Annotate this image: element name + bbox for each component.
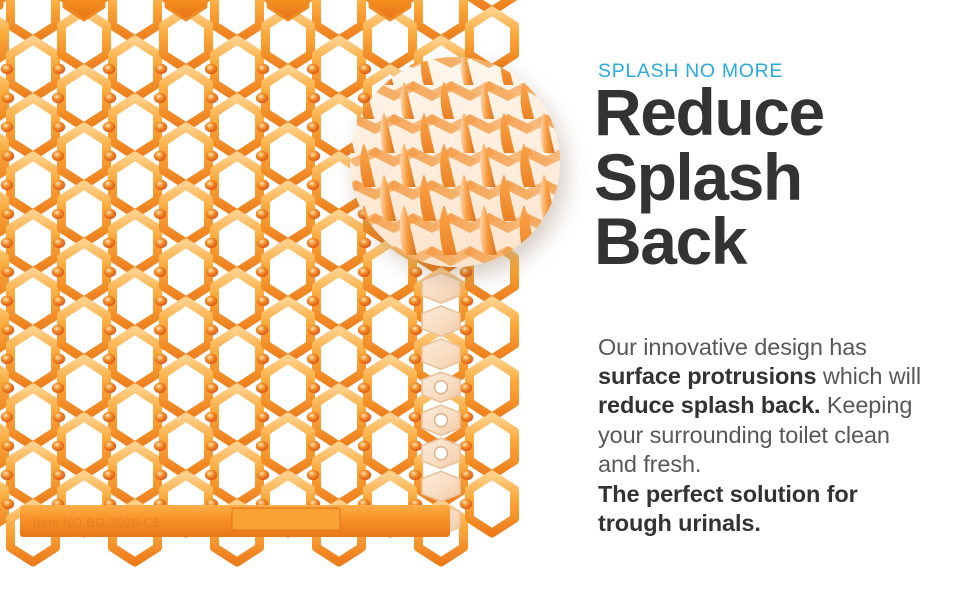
lattice-joint-bump [205, 64, 217, 74]
hex-cell [418, 0, 463, 40]
hex-cell [214, 156, 259, 214]
lattice-joint-bump [257, 296, 269, 306]
lattice-joint-bump [206, 267, 218, 277]
lattice-joint-bump [308, 267, 320, 277]
lattice-joint-bump [460, 499, 472, 509]
lattice-joint-bump [155, 180, 167, 190]
lattice-joint-bump [308, 209, 320, 219]
lattice-joint-bump [205, 354, 217, 364]
hex-cell [469, 475, 514, 533]
hex-cell [10, 272, 55, 330]
hex-cell [367, 301, 412, 359]
lattice-joint-bump [460, 383, 472, 393]
hex-cell [10, 330, 55, 388]
lattice-joint-bump [104, 93, 116, 103]
lattice-joint-bump [104, 441, 116, 451]
lattice-joint-bump [307, 412, 319, 422]
hex-cell [214, 40, 259, 98]
lattice-joint-bump [53, 354, 65, 364]
hex-cell [10, 156, 55, 214]
lattice-joint-bump [205, 296, 217, 306]
lattice-joint-bump [1, 470, 13, 480]
lattice-joint-bump [103, 354, 115, 364]
hex-cell [112, 446, 157, 504]
lattice-joint-bump [104, 383, 116, 393]
lattice-joint-bump [359, 238, 371, 248]
lattice-joint-bump [308, 93, 320, 103]
lattice-joint-bump [358, 267, 370, 277]
lattice-joint-bump [155, 64, 167, 74]
lattice-joint-bump [460, 441, 472, 451]
hex-cell [112, 272, 157, 330]
hex-cell [112, 388, 157, 446]
hex-cell [316, 388, 361, 446]
lattice-joint-bump [256, 151, 268, 161]
closing-paragraph: The perfect solution for trough urinals. [598, 480, 928, 539]
hex-cell [0, 11, 5, 69]
lattice-joint-bump [53, 64, 65, 74]
lattice-joint-bump [206, 325, 218, 335]
lattice-joint-bump [155, 470, 167, 480]
mat-bottom-rail [20, 505, 450, 537]
lattice-joint-bump [359, 296, 371, 306]
lattice-joint-bump [307, 470, 319, 480]
hex-cell [112, 214, 157, 272]
lattice-joint-bump [409, 470, 421, 480]
lattice-joint-bump [103, 238, 115, 248]
hex-cell [265, 243, 310, 301]
hex-cell [367, 359, 412, 417]
headline-line-1: Reduce [594, 80, 824, 145]
lattice-joint-bump [53, 122, 65, 132]
lattice-joint-bump [410, 325, 422, 335]
lattice-joint-bump [52, 151, 64, 161]
lattice-joint-bump [103, 64, 115, 74]
lattice-joint-bump [308, 441, 320, 451]
hex-cell [469, 417, 514, 475]
lattice-joint-bump [257, 122, 269, 132]
lattice-joint-bump [307, 354, 319, 364]
lattice-joint-bump [257, 64, 269, 74]
headline-line-2: Splash [594, 145, 824, 210]
hex-cell [214, 330, 259, 388]
lattice-joint-bump [53, 238, 65, 248]
hex-cell [163, 185, 208, 243]
hex-cell [112, 40, 157, 98]
hex-cell [10, 388, 55, 446]
hex-cell [469, 359, 514, 417]
lattice-joint-bump [1, 354, 13, 364]
hex-cell [469, 301, 514, 359]
lattice-joint-bump [461, 296, 473, 306]
hex-cell [265, 69, 310, 127]
page-title: Reduce Splash Back [594, 80, 824, 274]
body-segment-3: reduce splash back. [598, 392, 820, 418]
lattice-joint-bump [53, 412, 65, 422]
lattice-joint-bump [257, 238, 269, 248]
lattice-joint-bump [2, 151, 14, 161]
lattice-joint-bump [103, 296, 115, 306]
lattice-joint-bump [256, 383, 268, 393]
hex-cell [265, 185, 310, 243]
lattice-joint-bump [2, 209, 14, 219]
lattice-joint-bump [358, 441, 370, 451]
mounting-hole [435, 414, 448, 427]
lattice-joint-bump [53, 470, 65, 480]
hex-cell [214, 272, 259, 330]
hex-cell [163, 301, 208, 359]
hex-cell [316, 272, 361, 330]
hex-cell [163, 417, 208, 475]
lattice-joint-bump [256, 267, 268, 277]
lattice-joint-bump [205, 180, 217, 190]
lattice-joint-bump [256, 209, 268, 219]
hex-cell [316, 214, 361, 272]
lattice-joint-bump [2, 325, 14, 335]
lattice-joint-bump [2, 93, 14, 103]
hex-cell [316, 40, 361, 98]
hex-cell [61, 185, 106, 243]
lattice-joint-bump [53, 296, 65, 306]
lattice-joint-bump [103, 412, 115, 422]
mat-bottom-raised-boss [232, 508, 340, 530]
hex-cell [214, 0, 259, 40]
lattice-joint-bump [206, 383, 218, 393]
hex-cell [112, 98, 157, 156]
lattice-joint-bump [104, 151, 116, 161]
right-edge-pale-hex [422, 471, 460, 501]
hex-cell [214, 388, 259, 446]
lattice-joint-bump [359, 64, 371, 74]
lattice-joint-bump [1, 64, 13, 74]
lattice-joint-bump [256, 93, 268, 103]
hex-cell [112, 0, 157, 40]
headline-line-3: Back [594, 209, 824, 274]
lattice-joint-bump [155, 412, 167, 422]
lattice-joint-bump [206, 93, 218, 103]
lattice-joint-bump [358, 383, 370, 393]
lattice-joint-bump [256, 441, 268, 451]
hex-cell [214, 446, 259, 504]
lattice-joint-bump [307, 296, 319, 306]
lattice-joint-bump [256, 325, 268, 335]
lattice-joint-bump [1, 180, 13, 190]
hex-cell [214, 98, 259, 156]
hex-cell [265, 301, 310, 359]
lattice-joint-bump [307, 238, 319, 248]
right-edge-pale-hex [422, 273, 460, 303]
lattice-joint-bump [206, 209, 218, 219]
mat-right-edge-hexes [422, 273, 460, 535]
lattice-joint-bump [1, 412, 13, 422]
lattice-joint-bump [52, 209, 64, 219]
lattice-joint-bump [460, 325, 472, 335]
lattice-joint-bump [155, 122, 167, 132]
hex-cell [265, 359, 310, 417]
lattice-joint-bump [359, 354, 371, 364]
lattice-joint-bump [2, 499, 14, 509]
promo-banner: Item NO.BG-2020-C6 [0, 0, 970, 600]
lattice-joint-bump [257, 470, 269, 480]
magnified-protrusions-inset [350, 57, 560, 267]
lattice-joint-bump [460, 267, 472, 277]
lattice-joint-bump [103, 180, 115, 190]
lattice-joint-bump [155, 238, 167, 248]
lattice-joint-bump [409, 412, 421, 422]
lattice-joint-bump [410, 441, 422, 451]
lattice-joint-bump [52, 383, 64, 393]
hex-cell [163, 359, 208, 417]
lattice-joint-bump [359, 470, 371, 480]
hex-cell [10, 214, 55, 272]
lattice-joint-bump [409, 296, 421, 306]
lattice-joint-bump [154, 325, 166, 335]
right-edge-pale-hex [422, 306, 460, 336]
top-edge-filled-hex [0, 0, 2, 20]
hex-cell [265, 417, 310, 475]
body-segment-1: surface protrusions [598, 363, 816, 389]
lattice-joint-bump [205, 122, 217, 132]
lattice-joint-bump [2, 441, 14, 451]
body-paragraph: Our innovative design has surface protru… [598, 333, 928, 480]
right-edge-pale-hex [422, 339, 460, 369]
hex-cell [61, 69, 106, 127]
lattice-joint-bump [53, 180, 65, 190]
lattice-joint-bump [1, 122, 13, 132]
hex-cell [61, 417, 106, 475]
lattice-joint-bump [154, 441, 166, 451]
lattice-joint-bump [155, 354, 167, 364]
lattice-joint-bump [307, 180, 319, 190]
hex-cell [163, 69, 208, 127]
hex-cell [10, 98, 55, 156]
lattice-joint-bump [155, 296, 167, 306]
lattice-joint-bump [52, 325, 64, 335]
lattice-joint-bump [461, 354, 473, 364]
lattice-joint-bump [104, 267, 116, 277]
lattice-joint-bump [205, 238, 217, 248]
lattice-joint-bump [257, 354, 269, 364]
lattice-joint-bump [154, 383, 166, 393]
lattice-joint-bump [2, 267, 14, 277]
text-panel: SPLASH NO MORE Reduce Splash Back Our in… [598, 0, 958, 600]
mounting-hole [435, 447, 448, 460]
lattice-joint-bump [308, 383, 320, 393]
hex-cell [61, 243, 106, 301]
lattice-joint-bump [461, 412, 473, 422]
lattice-joint-bump [307, 122, 319, 132]
lattice-joint-bump [205, 470, 217, 480]
lattice-joint-bump [205, 412, 217, 422]
hex-cell [10, 40, 55, 98]
hex-cell [265, 127, 310, 185]
lattice-joint-bump [52, 441, 64, 451]
lattice-joint-bump [308, 325, 320, 335]
lattice-joint-bump [1, 296, 13, 306]
hex-cell [367, 417, 412, 475]
lattice-joint-bump [154, 93, 166, 103]
mounting-hole [435, 381, 448, 394]
lattice-joint-bump [103, 122, 115, 132]
lattice-joint-bump [410, 267, 422, 277]
lattice-joint-bump [206, 441, 218, 451]
hex-cell [61, 359, 106, 417]
lattice-joint-bump [257, 412, 269, 422]
body-segment-2: which will [816, 363, 920, 389]
lattice-joint-bump [103, 470, 115, 480]
hex-cell [112, 156, 157, 214]
lattice-joint-bump [154, 151, 166, 161]
hex-cell [10, 446, 55, 504]
lattice-joint-bump [409, 354, 421, 364]
lattice-joint-bump [154, 267, 166, 277]
lattice-joint-bump [461, 470, 473, 480]
lattice-joint-bump [52, 93, 64, 103]
lattice-joint-bump [410, 383, 422, 393]
lattice-joint-bump [1, 238, 13, 248]
hex-cell [214, 214, 259, 272]
lattice-joint-bump [358, 325, 370, 335]
body-segment-0: Our innovative design has [598, 334, 867, 360]
lattice-joint-bump [52, 267, 64, 277]
hex-cell [316, 446, 361, 504]
hex-cell [112, 330, 157, 388]
lattice-joint-bump [206, 151, 218, 161]
hex-cell [316, 330, 361, 388]
hex-cell [163, 127, 208, 185]
lattice-joint-bump [307, 64, 319, 74]
lattice-joint-bump [257, 180, 269, 190]
hex-cell [61, 301, 106, 359]
hex-cell [61, 127, 106, 185]
lattice-joint-bump [308, 151, 320, 161]
lattice-joint-bump [104, 325, 116, 335]
hex-cell [10, 0, 55, 40]
hex-cell [316, 0, 361, 40]
lattice-joint-bump [359, 412, 371, 422]
lattice-joint-bump [104, 209, 116, 219]
hex-cell [163, 243, 208, 301]
lattice-joint-bump [2, 383, 14, 393]
lattice-joint-bump [154, 209, 166, 219]
